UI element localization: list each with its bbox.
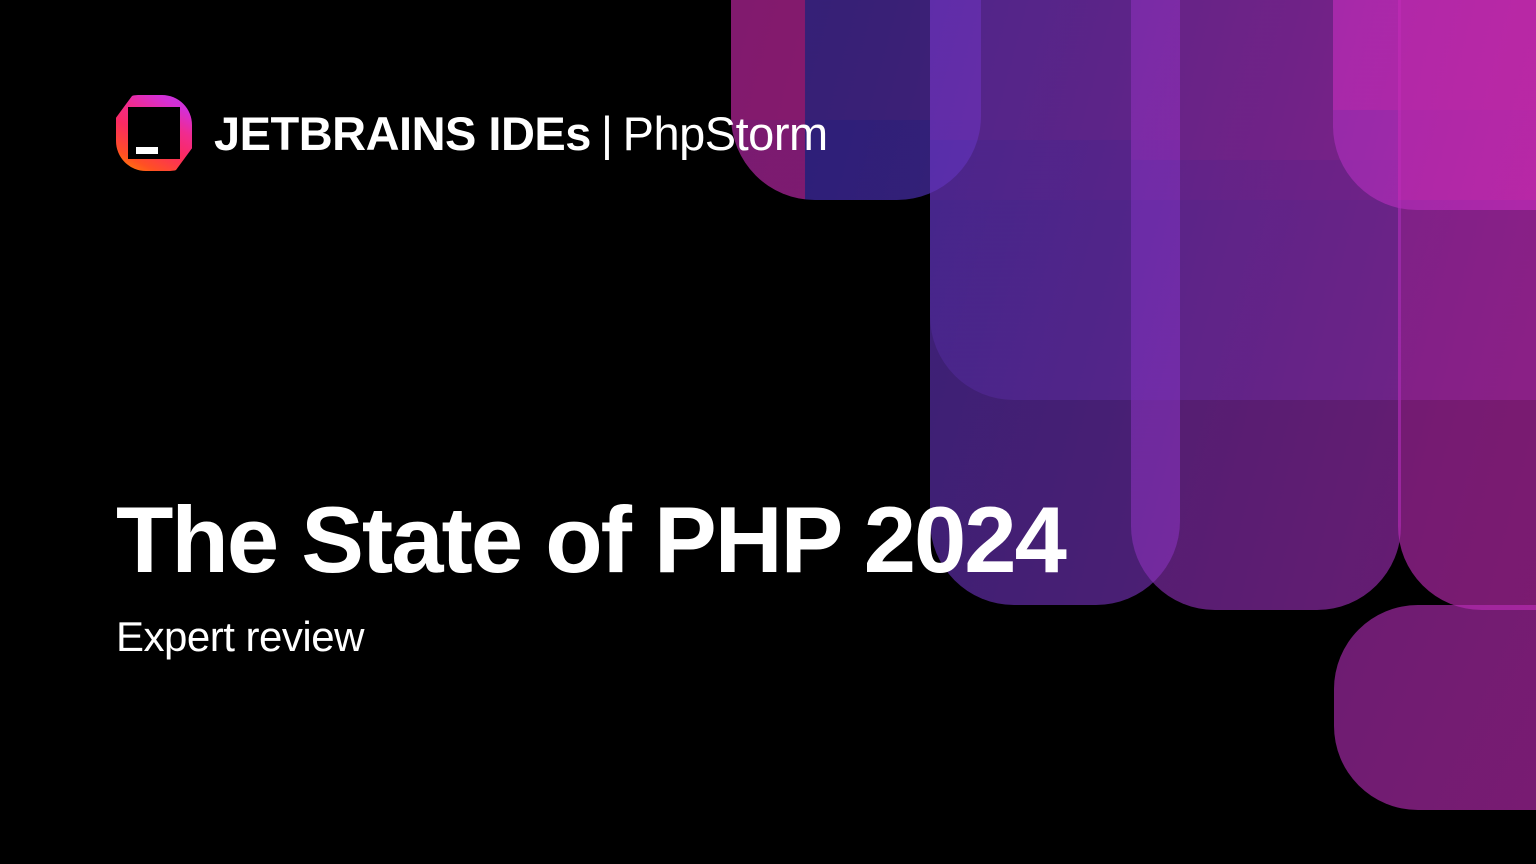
- jetbrains-logo-underscore: [136, 147, 158, 154]
- page-subtitle: Expert review: [116, 614, 1065, 660]
- logo-brand-text: JETBRAINS IDEs: [214, 107, 591, 160]
- page-title: The State of PHP 2024: [116, 492, 1065, 588]
- promo-banner: JETBRAINS IDEs|PhpStorm The State of PHP…: [0, 0, 1536, 864]
- logo-lockup: JETBRAINS IDEs|PhpStorm: [116, 95, 828, 171]
- gradient-tile-3: [1131, 0, 1401, 610]
- gradient-tile-7: [930, 0, 1536, 400]
- logo-product-text: PhpStorm: [623, 107, 828, 160]
- logo-wordmark: JETBRAINS IDEs|PhpStorm: [214, 110, 828, 157]
- logo-separator: |: [591, 107, 623, 160]
- headline-block: The State of PHP 2024 Expert review: [116, 492, 1065, 660]
- gradient-tile-4: [1333, 0, 1536, 210]
- jetbrains-logo-icon: [116, 95, 192, 171]
- gradient-tile-6: [1334, 605, 1536, 810]
- gradient-tile-5: [1398, 0, 1536, 610]
